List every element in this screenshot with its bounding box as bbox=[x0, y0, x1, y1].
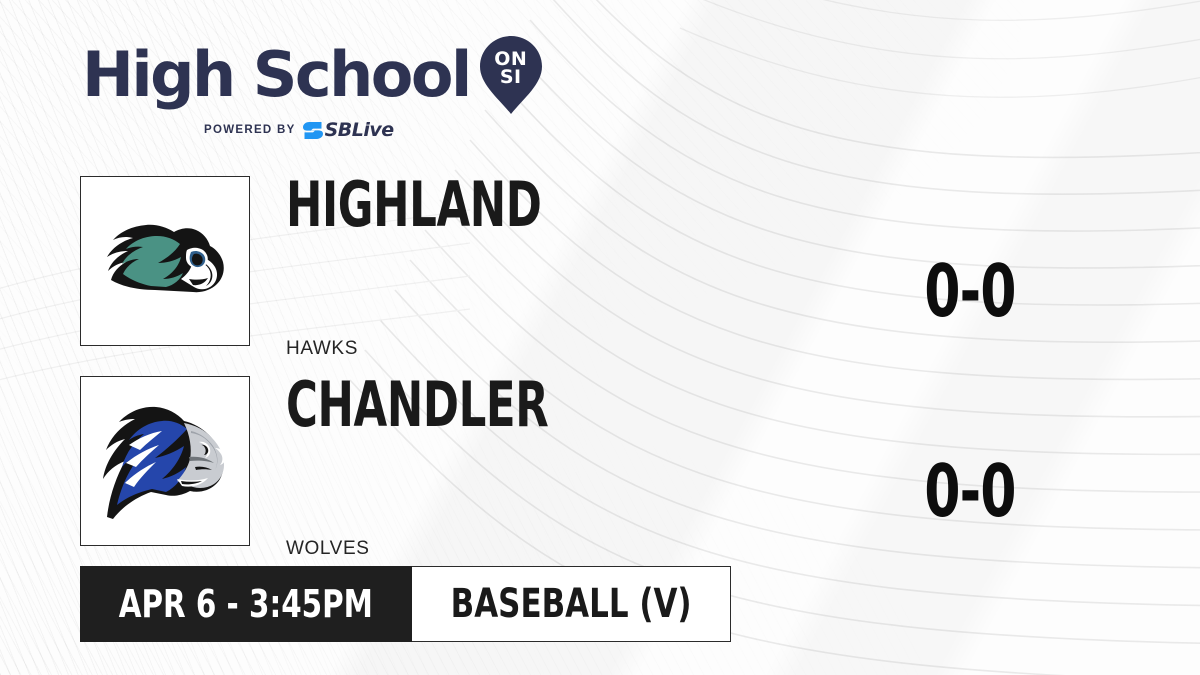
team-name-highland: HIGHLAND bbox=[286, 174, 542, 236]
pin-text-si: SI bbox=[480, 68, 542, 86]
team-mascot-chandler: WOLVES bbox=[286, 538, 370, 560]
team-record-chandler: 0-0 bbox=[890, 455, 1050, 527]
sblive-wordmark: SBLive bbox=[325, 119, 394, 141]
sblive-logo: SBLive bbox=[303, 119, 394, 141]
game-sport-block: BASEBALL (V) bbox=[412, 566, 731, 642]
hawk-head-logo-icon bbox=[95, 206, 235, 316]
game-info-bar: APR 6 - 3:45PM BASEBALL (V) bbox=[80, 566, 731, 642]
team-logo-chandler bbox=[80, 376, 250, 546]
powered-by-row: POWERED BY SBLive bbox=[204, 119, 542, 141]
game-sport-text: BASEBALL (V) bbox=[451, 581, 692, 627]
brand-title: High School bbox=[82, 46, 470, 105]
brand-header: High School ON SI POWERED BY SBLive bbox=[82, 36, 542, 141]
team-name-chandler: CHANDLER bbox=[286, 374, 548, 436]
sblive-bolt-icon bbox=[303, 122, 323, 139]
team-mascot-highland: HAWKS bbox=[286, 338, 358, 360]
on-si-pin-text: ON SI bbox=[480, 50, 542, 86]
team-record-highland: 0-0 bbox=[890, 255, 1050, 327]
powered-by-label: POWERED BY bbox=[204, 124, 296, 136]
matchup-graphic: High School ON SI POWERED BY SBLive bbox=[0, 0, 1200, 675]
wolf-head-logo-icon bbox=[95, 401, 235, 521]
on-si-pin-icon: ON SI bbox=[480, 36, 542, 114]
brand-title-row: High School ON SI bbox=[82, 36, 542, 114]
game-datetime-text: APR 6 - 3:45PM bbox=[119, 582, 373, 626]
game-datetime-block: APR 6 - 3:45PM bbox=[80, 566, 412, 642]
team-logo-highland bbox=[80, 176, 250, 346]
